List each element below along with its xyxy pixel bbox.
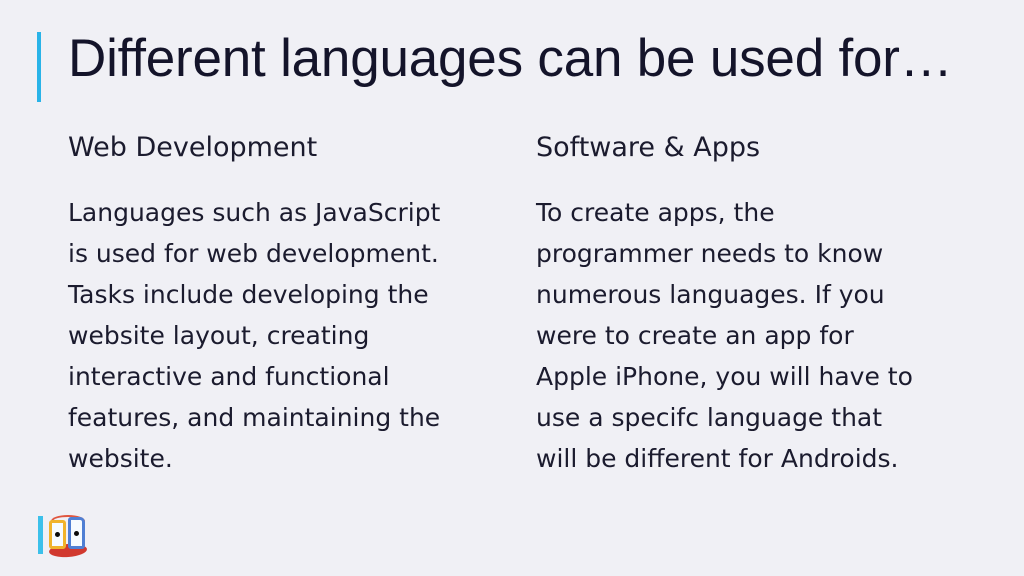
body-line: Languages such as JavaScript [68, 192, 488, 233]
content-columns: Web Development Languages such as JavaSc… [68, 132, 968, 479]
books-logo-icon [36, 512, 92, 560]
column-software-apps: Software & Apps To create apps, the prog… [536, 132, 956, 479]
body-line: programmer needs to know [536, 233, 956, 274]
body-line: will be different for Androids. [536, 438, 956, 479]
body-line: To create apps, the [536, 192, 956, 233]
body-line: were to create an app for [536, 315, 956, 356]
body-line: features, and maintaining the [68, 397, 488, 438]
slide-canvas: Different languages can be used for… Web… [0, 0, 1024, 576]
body-line: website. [68, 438, 488, 479]
slide-title-row: Different languages can be used for… [37, 30, 953, 102]
column-heading: Software & Apps [536, 132, 956, 164]
column-body: Languages such as JavaScript is used for… [68, 192, 488, 479]
logo-accent-bar-icon [38, 516, 43, 554]
column-body: To create apps, the programmer needs to … [536, 192, 956, 479]
column-web-development: Web Development Languages such as JavaSc… [68, 132, 488, 479]
page-title: Different languages can be used for… [68, 30, 953, 87]
body-line: use a specifc language that [536, 397, 956, 438]
body-line: Tasks include developing the [68, 274, 488, 315]
body-line: Apple iPhone, you will have to [536, 356, 956, 397]
logo-dot-left-icon [55, 532, 60, 537]
body-line: is used for web development. [68, 233, 488, 274]
body-line: website layout, creating [68, 315, 488, 356]
logo-dot-right-icon [74, 531, 79, 536]
body-line: interactive and functional [68, 356, 488, 397]
title-accent-bar-icon [37, 32, 41, 102]
column-heading: Web Development [68, 132, 488, 164]
body-line: numerous languages. If you [536, 274, 956, 315]
